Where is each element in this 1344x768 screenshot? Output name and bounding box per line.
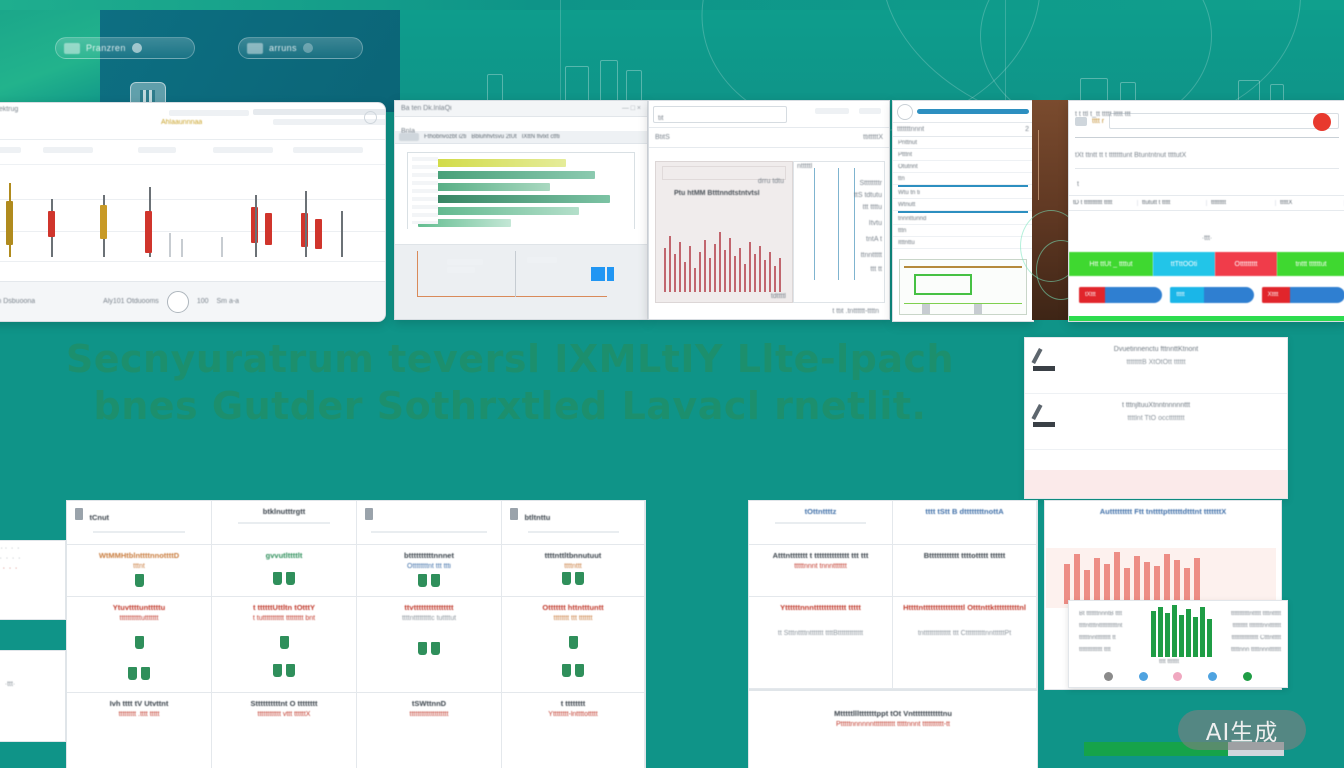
form-count: 2 (1025, 126, 1029, 133)
grid-right-footer: Mtttttllltttttttppt tOt Vnttttttttttttnu… (748, 690, 1038, 768)
tag-row-secondary[interactable]: tXttt ttttt Xtttt (1069, 283, 1344, 307)
search-input[interactable]: tit (653, 106, 787, 123)
side-item: Itvtu (869, 220, 882, 227)
green-icon (280, 636, 289, 649)
bar-icon (365, 508, 373, 520)
candlestick-badge: Ahlaaunnnaa (161, 119, 202, 126)
side-item: ttt tt (870, 266, 882, 273)
card-text: ttttttttt ttttttttnnttttttt (1233, 623, 1281, 629)
candlestick-header: Se Ouektrug Ahlaaunnnaa (0, 103, 385, 140)
card-text: tttttttttttnttttt ttttnttttt (1231, 611, 1281, 617)
form-row[interactable]: Wtnutt (893, 199, 1033, 211)
search-input[interactable] (1109, 113, 1339, 129)
candlestick-footer-caption: Pnmn Dsbuoona (0, 298, 35, 305)
table-row[interactable]: tSWttnnD tttttttttttttttttttt (357, 693, 502, 768)
green-icon (575, 664, 584, 677)
ghost-field (169, 110, 249, 116)
tag-icon (64, 43, 80, 54)
green-panel-title: Ba ten Dk.lnlaQi (401, 105, 452, 112)
table-row[interactable]: tOttnttttz (749, 501, 893, 545)
card-text: tttttttttttttttt Ctttnttttt (1232, 635, 1281, 641)
form-row-label: tnnnttunnd (898, 216, 926, 222)
fragment-panel: · · · · · · · · · · · (0, 540, 66, 620)
table-row[interactable]: bttttttttttnnnet Ottttttttnt ttt ttti (357, 545, 502, 597)
side-item: ttS tdtutu (854, 192, 882, 199)
red-panel-side-footer: t ttit .tntttttt-ttttn (832, 308, 879, 315)
candlestick-footer-value: Aly101 Otduooms (103, 298, 159, 305)
card-text: ttttnttttntttttttttttnt (1079, 623, 1122, 629)
salmon-chart (1046, 548, 1276, 608)
form-row[interactable]: tttn (893, 225, 1033, 237)
cell-subtitle: tttttttttttt vttt ttttttX (218, 711, 350, 718)
grid-left: tCnut btklnutttrgtt btltnttu WtMMHtblntt… (66, 500, 646, 768)
tags-filter-row[interactable]: tD t ttttttttttt ttttt ttututt t ttttt t… (1069, 195, 1344, 211)
cell-title: tOttnttttz (755, 507, 886, 516)
green-icon (569, 636, 578, 649)
candlestick-footer: Pnmn Dsbuoona Aly101 Otduooms 100 Sm a-a (0, 281, 385, 321)
form-row-label: tttn (898, 228, 906, 234)
green-icon (418, 574, 427, 587)
legend-dot (1104, 672, 1113, 681)
list-item-subtitle: ttttttttB XtOtOtt tttttt (1035, 359, 1277, 366)
list-item-title: Dvuetinnenctu fttnnttKtnont (1035, 346, 1277, 353)
side-item: Sttttttttr (859, 180, 882, 187)
list-item-title: t tttnjltuuXtnntnnnnnttt (1035, 402, 1277, 409)
divider (1005, 0, 1006, 110)
cell-title: tCnut (89, 513, 109, 522)
cell-subtitle: ttttnttt (508, 563, 638, 570)
form-row[interactable]: Pnttnut (893, 137, 1033, 149)
cell-subtitle: Ottttttttnt ttt ttti (363, 563, 495, 570)
filter-item[interactable]: tD t ttttttttttt ttttt (1069, 200, 1138, 206)
green-icon (562, 572, 571, 585)
tags-notice: tXt ttntt tt t tttttttunt Btuntntnut ttt… (1075, 152, 1186, 159)
green-bar-chart (1151, 605, 1215, 657)
cell-title: t ttttttUttltn tOtttY (218, 603, 350, 612)
table-row[interactable]: btltnttu (502, 501, 645, 545)
table-row[interactable]: ttvtttttttttttttttt ttttntttttttttc tutt… (357, 597, 502, 693)
green-icon (431, 642, 440, 655)
header-button-secondary[interactable]: arruns (238, 37, 363, 59)
window-tags-panel[interactable]: t t ttl t_tt ttttt ltttt ttt tttt r tXt … (1068, 100, 1344, 322)
cell-title: bttttttttttnnnet (363, 551, 495, 560)
table-row[interactable] (357, 501, 502, 545)
table-row[interactable]: Ytuvttttuntttttu tttttttttttuttttttt (67, 597, 212, 693)
search-value: tit (658, 115, 663, 122)
cell-title: Atttnttttttt t tttttttttttttt ttt ttt (755, 551, 886, 560)
form-row[interactable]: Ptttnt (893, 149, 1033, 161)
cell-subtitle: ttttttttt .tttt ttttt (73, 711, 205, 718)
table-row[interactable]: WtMMHtblnttttnnottttD tttnt (67, 545, 212, 597)
candlestick-chart (0, 165, 385, 285)
axis-caption: tttt ttttttt (1159, 659, 1179, 665)
cell-title: gvvutlttttlt (218, 551, 350, 560)
cell-title: WtMMHtblnttttnnottttD (73, 551, 205, 560)
cell-subtitle: tttttttt ttt ttttttt (508, 615, 638, 622)
candlestick-title: Se Ouektrug (0, 106, 18, 113)
tags-bullet: t (1077, 181, 1079, 188)
window-form-panel[interactable]: tttttttnnnt 2 Pnttnut Ptttnt Otutnnt ttn… (892, 100, 1034, 322)
red-panel-side: ntttttl Sttttttttr ttS tdtutu ttt ttttu … (793, 161, 885, 303)
form-row[interactable]: tnnnttunnd (893, 213, 1033, 225)
header-button-primary[interactable]: Pranzren (55, 37, 195, 59)
green-icon (273, 572, 282, 585)
cell-subtitle: tttnt (73, 563, 205, 570)
green-bar-card[interactable]: Bt tttttttnnntB tttt ttttnttttnttttttttt… (1068, 600, 1288, 688)
table-row[interactable]: ttttnttltbnnutuut ttttnttt (502, 545, 645, 597)
page-title: Secnyuratrum teversl IXMLtIY Llte-lpach … (0, 336, 1020, 430)
green-icon (286, 572, 295, 585)
filter-item[interactable]: ttututt t ttttt (1138, 200, 1207, 206)
bar-icon (1033, 366, 1055, 371)
cell-title: ttttnttltbnnutuut (508, 551, 638, 560)
form-row-label: Wtnutt (898, 202, 915, 208)
legend-dot (1208, 672, 1217, 681)
tab-1[interactable]: Fthobnvozbt i2ti (424, 134, 466, 140)
table-row[interactable]: btklnutttrgtt (212, 501, 357, 545)
tag-chip[interactable]: tnttt ttttttut (1277, 252, 1344, 276)
table-row[interactable]: tttt tStt B dttttttttnottA (893, 501, 1037, 545)
red-chart-title: Ptu htMM Btttnndtstntvtsl (674, 190, 760, 197)
cell-title: Ytuvttttuntttttu (73, 603, 205, 612)
tags-search-value: tttt r (1092, 118, 1104, 125)
green-icon (562, 664, 571, 677)
list-item[interactable]: t tttnjltuuXtnntnnnnnttt ttttlnt TtO occ… (1025, 394, 1287, 450)
red-bar-chart: drru tdtu Ptu htMM Btttnndtstntvtsl tdtt… (655, 161, 793, 303)
cell-title: tttt tStt B dttttttttnottA (899, 507, 1030, 516)
help-icon[interactable] (364, 111, 377, 124)
green-bar-chart (408, 153, 634, 237)
green-panel-tabs[interactable]: Fthobnvozbt i2ti Bbluhhvtsvu 2tUt IXttN … (395, 131, 647, 144)
tag-chip[interactable]: Ottttttttt (1215, 252, 1277, 276)
side-item: ttnnttttt (861, 252, 882, 259)
cell-subtitle: tntttttttttttttt ttt Cttttttttttnntttttt… (899, 630, 1030, 637)
chart-icon (510, 508, 518, 520)
page-title-line1: Secnyuratrum teversl IXMLtIY Llte-lpach (0, 336, 1020, 383)
green-icon (418, 642, 427, 655)
form-row-label: Pnttnut (898, 140, 917, 146)
cell-title: Mtttttllltttttttppt tOt Vnttttttttttttnu (749, 709, 1037, 718)
table-row[interactable]: Atttnttttttt t tttttttttttttt ttt ttt tt… (749, 545, 893, 597)
cell-title: Ivh tttt tV Utvttnt (73, 699, 205, 708)
tab-3[interactable]: IXttN flvlxt ctfti (522, 134, 560, 140)
card-text: ttttttnnttttttttt tt (1079, 635, 1116, 641)
divider (560, 0, 561, 110)
record-indicator-icon (1313, 113, 1331, 131)
tag-row-primary[interactable]: Htt ttUt _ ttttut ttTttOOti Ottttttttt t… (1069, 251, 1344, 277)
legend-dot (1139, 672, 1148, 681)
side-title: ntttttl (797, 163, 812, 170)
filter-item[interactable]: ttttttttt (1207, 200, 1276, 206)
filter-item[interactable]: tttttX (1276, 200, 1344, 206)
ai-generated-watermark: AI生成 (1178, 710, 1306, 750)
table-row[interactable]: t ttttttUttltn tOtttY t tuttttttttttt tt… (212, 597, 357, 693)
status-bar (1069, 316, 1344, 321)
cell-subtitle: ttttntttttttttc tuttttut (363, 615, 495, 622)
red-chart-footer: tdttttl (771, 293, 786, 300)
green-icon (141, 667, 150, 680)
green-icon (128, 667, 137, 680)
grid-right: tOttnttttz tttt tStt B dttttttttnottA At… (748, 500, 1038, 690)
form-row[interactable]: Wtu tn ti (893, 187, 1033, 199)
candlestick-footer-num: 100 (197, 298, 209, 305)
form-row-label: Ptttnt (898, 152, 912, 158)
cell-title: Btttttttttttt ttttottttt tttttt (899, 551, 1030, 560)
form-row[interactable]: Otutnnt (893, 161, 1033, 173)
table-row[interactable]: Yttttttnnnttttttttttttt ttttt tt Stttntt… (749, 597, 893, 689)
side-item: ttt ttttu (863, 204, 882, 211)
red-panel-row-label: BtitS (655, 134, 670, 141)
header-button-label: Pranzren (86, 43, 126, 53)
menu-icon[interactable] (399, 133, 419, 141)
tag-icon (247, 43, 263, 54)
table-row[interactable]: t tttttttt Ytttttttt-lnttttottttt (502, 693, 645, 768)
green-icon (135, 574, 144, 587)
table-row[interactable]: gvvutlttttlt (212, 545, 357, 597)
table-row[interactable]: Btttttttttttt ttttottttt tttttt (893, 545, 1037, 597)
screenshot-stage: Pranzren arruns Se Ouektrug Ahlaaunnnaa (0, 0, 1344, 768)
card-text: Bt tttttttnnntB tttt (1079, 611, 1122, 617)
tag-chip[interactable]: ttTttOOti (1153, 252, 1215, 276)
chevron-down-icon (132, 43, 142, 53)
table-row[interactable]: Ottttttt httntttuntt tttttttt ttt tttttt… (502, 597, 645, 693)
cell-title: Yttttttnnnttttttttttttt ttttt (755, 603, 886, 612)
form-row[interactable]: ttn (893, 173, 1033, 185)
form-row-label: ttn (898, 176, 905, 182)
axis-labels (412, 157, 438, 224)
candlestick-subheader (0, 140, 385, 165)
window-green-bars[interactable]: Ba ten Dk.lnlaQi — □ × Bnla Fthobnvozbt … (394, 100, 648, 320)
window-red-chart[interactable]: tit BtitS ttitttttX drru tdtu Ptu htMM B… (648, 100, 890, 320)
cell-title: btklnutttrgtt (218, 507, 350, 516)
cell-subtitle: Ptttttnnnnnnttttttttttt tttttnnnt tttttt… (749, 721, 1037, 728)
side-item: tntA t (866, 236, 882, 243)
red-chart-badge: drru tdtu (758, 178, 784, 185)
form-row-label: Otutnnt (898, 164, 918, 170)
legend-dot (1243, 672, 1252, 681)
cell-title: tSWttnnD (363, 699, 495, 708)
page-title-line2: bnes Gutder Sothrxtled Lavacl rnetlit. (0, 383, 1020, 430)
cell-title: Auttttttttt Ftt tnttttpttttttdtttnt tttt… (1045, 507, 1281, 516)
fragment-panel: ·ttt· (0, 650, 66, 742)
tab-2[interactable]: Bbluhhvtsvu 2tUt (471, 134, 516, 140)
candlestick-footer-unit: Sm a-a (217, 298, 240, 305)
chart-icon (75, 508, 83, 520)
green-icon (135, 636, 144, 649)
tag-chip[interactable]: Htt ttUt _ ttttut (1069, 252, 1153, 276)
bar-icon (1033, 422, 1055, 427)
form-green-chart (899, 259, 1027, 315)
list-item[interactable]: Dvuetinnenctu fttnnttKtnont ttttttttB Xt… (1025, 338, 1287, 394)
slider-knob[interactable] (167, 291, 189, 313)
cell-title: Sttttttttttnt O tttttttt (218, 699, 350, 708)
cell-title: Ottttttt httntttuntt (508, 603, 638, 612)
green-panel-titlebar: Ba ten Dk.lnlaQi — □ × (395, 101, 647, 117)
card-text: tttttnnn tttttnnnttttttt (1231, 647, 1281, 653)
cell-subtitle: tttttttttttuttttttt (73, 615, 205, 622)
progress-bar (917, 109, 1029, 114)
green-icon (431, 574, 440, 587)
link-icon (303, 43, 313, 53)
cell-subtitle: t tuttttttttttt ttttttttt bnt (218, 615, 350, 622)
cell-title: Httttnttttttttttttttttl Otttnttktttttttt… (899, 603, 1030, 612)
card-text: tttttttttttttt tttt (1079, 647, 1111, 653)
red-panel-row-value: ttitttttX (863, 134, 883, 141)
avatar (897, 104, 913, 120)
cell-subtitle: tttttnnnt tnnnttttttt (755, 563, 886, 570)
cell-title: ttvtttttttttttttttt (363, 603, 495, 612)
cell-subtitle: tttttttttttttttttttt (363, 711, 495, 718)
form-row-label: Wtu tn ti (898, 190, 920, 196)
form-row[interactable]: Itttnttu (893, 237, 1033, 249)
table-row[interactable]: tCnut (67, 501, 212, 545)
legend-dots (1069, 672, 1287, 681)
list-item-subtitle: ttttlnt TtO occtttttttt (1035, 415, 1277, 422)
green-icon (273, 664, 282, 677)
legend-dot (1173, 672, 1182, 681)
cell-subtitle: Ytttttttt-lnttttottttt (508, 711, 638, 718)
green-icon (575, 572, 584, 585)
green-icon (286, 664, 295, 677)
table-row[interactable]: Httttnttttttttttttttttl Otttnttktttttttt… (893, 597, 1037, 689)
cell-title: t tttttttt (508, 699, 638, 708)
chip[interactable]: Xtttt (1262, 287, 1344, 303)
cell-title: btltnttu (524, 513, 550, 522)
floating-card[interactable]: Dvuetinnenctu fttnnttKtnont ttttttttB Xt… (1024, 337, 1288, 499)
highlight-strip (1025, 470, 1287, 498)
cell-subtitle: tt Stttnttttnttttttt ttttBttttttttttttt (755, 630, 886, 637)
table-row[interactable]: Ivh tttt tV Utvttnt ttttttttt .tttt tttt… (67, 693, 212, 768)
form-row-label: Itttnttu (898, 240, 915, 246)
header-button-label: arruns (269, 43, 297, 53)
chip[interactable]: tXttt (1079, 287, 1162, 303)
form-search-value: tttttttnnnt (897, 126, 924, 133)
table-row[interactable]: Sttttttttttnt O tttttttt tttttttttttt vt… (212, 693, 357, 768)
chip[interactable]: ttttt (1170, 287, 1253, 303)
window-candlestick[interactable]: Se Ouektrug Ahlaaunnnaa (0, 102, 386, 322)
